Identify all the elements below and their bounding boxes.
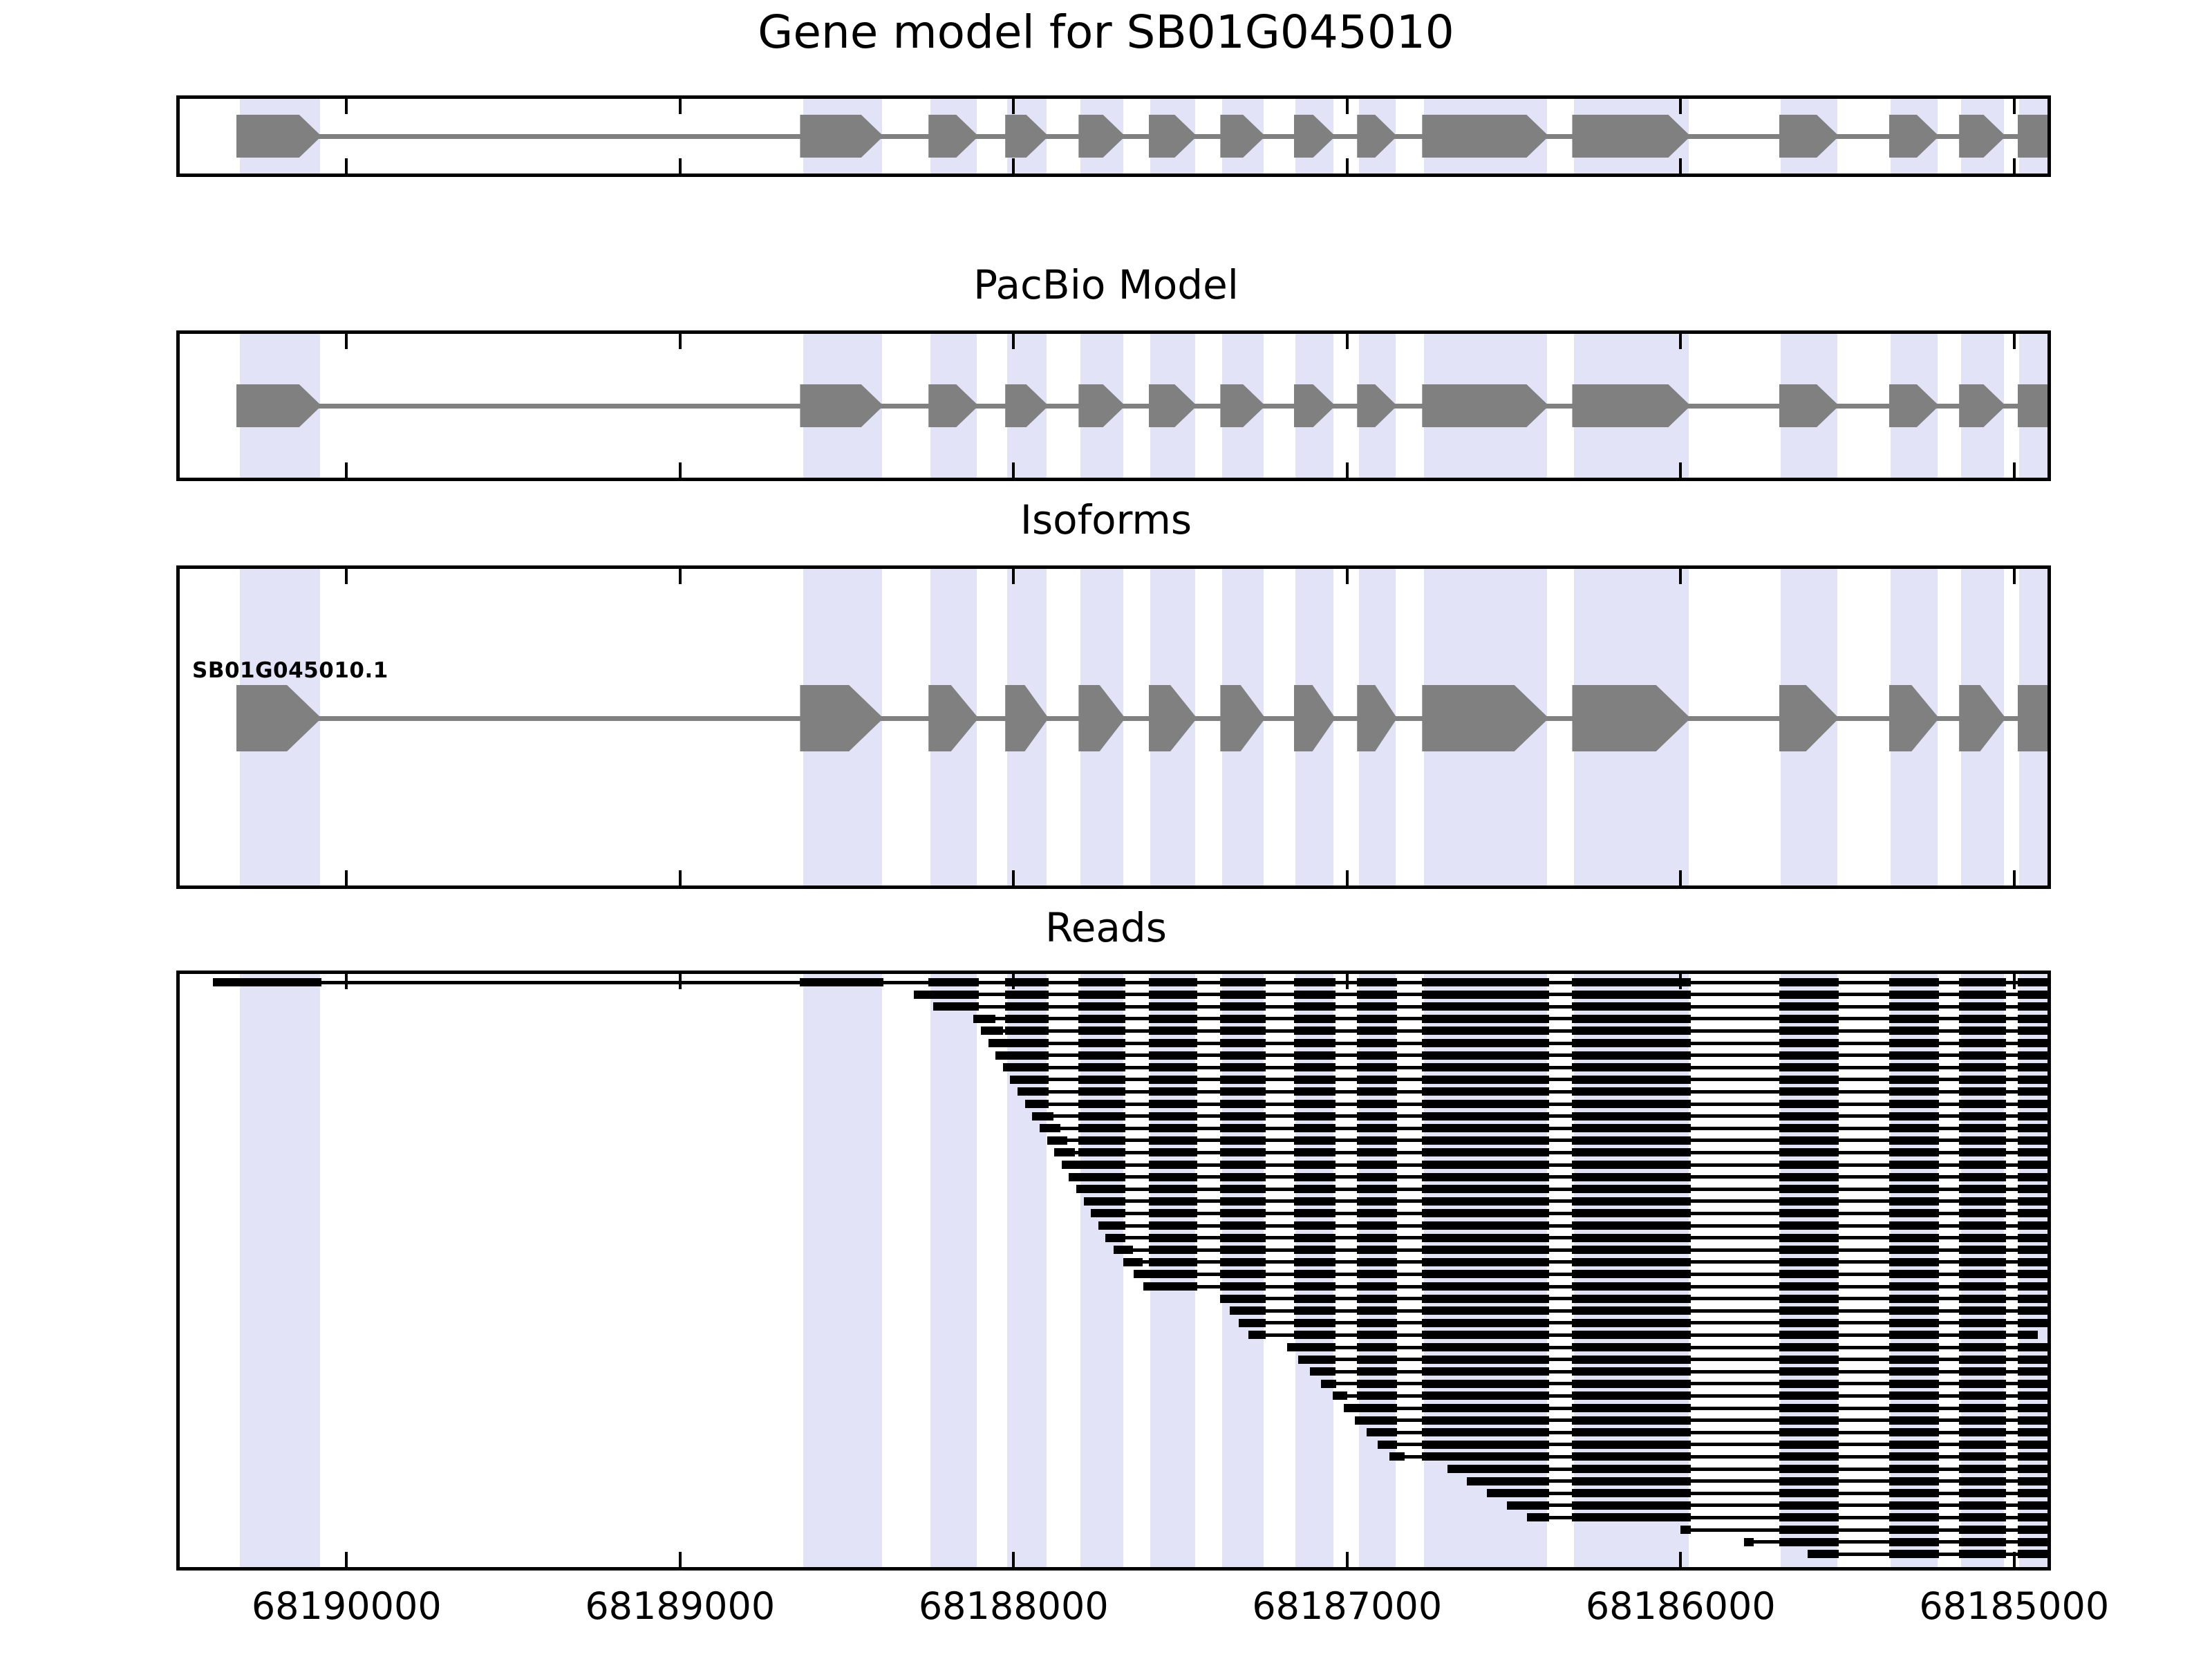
read-exon-block: [1422, 1282, 1548, 1291]
read-exon-block: [1959, 1124, 2006, 1132]
read-intron-line: [213, 981, 2051, 984]
read-exon-block: [1078, 978, 1125, 986]
read-exon-block: [1422, 1404, 1548, 1412]
read-start-block: [1114, 1246, 1133, 1254]
read-exon-block: [1889, 1258, 1939, 1266]
read-exon-block: [1220, 1258, 1265, 1266]
read-start-block: [1134, 1270, 1153, 1278]
read-exon-block: [1149, 1246, 1197, 1254]
axis-tick: [345, 1552, 348, 1567]
read-exon-block: [1357, 1258, 1397, 1266]
read-exon-block: [1357, 1391, 1397, 1400]
read-exon-block: [1078, 1136, 1125, 1145]
gene-model-panel: [176, 95, 2051, 177]
read-exon-block: [1422, 1197, 1548, 1206]
read-exon-block: [1357, 1185, 1397, 1193]
read-exon-block: [2018, 1063, 2051, 1071]
read-exon-block: [1572, 1465, 1690, 1473]
read-exon-block: [1294, 1136, 1335, 1145]
read-exon-block: [1959, 1161, 2006, 1169]
read-exon-block: [1220, 1063, 1265, 1071]
read-exon-block: [1889, 1380, 1939, 1388]
read-exon-block: [1220, 1282, 1265, 1291]
read-exon-block: [1357, 1027, 1397, 1035]
genome-browser-figure: Gene model for SB01G045010 PacBio Model …: [0, 0, 2212, 1659]
read-exon-block: [1779, 1282, 1839, 1291]
read-exon-block: [1572, 1173, 1690, 1181]
read-exon-block: [2018, 1465, 2051, 1473]
read-exon-block: [1149, 1209, 1197, 1217]
read-exon-block: [1959, 1027, 2006, 1035]
read-exon-block: [1779, 1477, 1839, 1485]
read-exon-block: [1889, 1221, 1939, 1230]
read-exon-block: [1220, 1015, 1265, 1023]
read-exon-block: [1889, 1501, 1939, 1510]
read-exon-block: [2018, 1282, 2051, 1291]
axis-tick: [2013, 1552, 2016, 1567]
read-exon-block: [1889, 1234, 1939, 1242]
read-exon-block: [1959, 1148, 2006, 1156]
highlight-band: [930, 974, 977, 1567]
read-exon-block: [1357, 1380, 1397, 1388]
read-start-block: [1069, 1173, 1089, 1181]
read-exon-block: [1889, 1319, 1939, 1327]
read-exon-block: [1889, 1002, 1939, 1011]
read-exon-block: [1889, 1076, 1939, 1084]
read-exon-block: [1357, 1209, 1397, 1217]
read-exon-block: [2018, 1234, 2051, 1242]
read-exon-block: [1959, 1465, 2006, 1473]
pacbio-model-panel: [176, 330, 2051, 481]
read-exon-block: [1959, 1100, 2006, 1108]
read-exon-block: [1220, 1002, 1265, 1011]
axis-tick: [345, 99, 348, 114]
read-start-block: [933, 1002, 956, 1011]
read-exon-block: [1220, 1148, 1265, 1156]
axis-tick: [1012, 99, 1015, 114]
exon-arrow: [1572, 384, 1690, 427]
highlight-band: [803, 974, 881, 1567]
read-start-block: [995, 1051, 1017, 1060]
read-exon-block: [2018, 978, 2051, 986]
read-exon-block: [1959, 1039, 2006, 1047]
read-exon-block: [1572, 1087, 1690, 1096]
read-exon-block: [2018, 1185, 2051, 1193]
axis-tick: [1679, 974, 1682, 989]
read-exon-block: [1294, 1063, 1335, 1071]
axis-tick: [1012, 462, 1015, 478]
read-exon-block: [1572, 1112, 1690, 1121]
read-exon-block: [1005, 991, 1049, 999]
exon-arrow: [2018, 115, 2051, 158]
read-exon-block: [1572, 1002, 1690, 1011]
read-exon-block: [1889, 1343, 1939, 1351]
read-exon-block: [1357, 1270, 1397, 1278]
read-exon-block: [1572, 1234, 1690, 1242]
read-exon-block: [1959, 1246, 2006, 1254]
read-exon-block: [1078, 1063, 1125, 1071]
read-exon-block: [1220, 1161, 1265, 1169]
read-exon-block: [1294, 1319, 1335, 1327]
read-exon-block: [2018, 1209, 2051, 1217]
read-exon-block: [1779, 1100, 1839, 1108]
read-exon-block: [1149, 1112, 1197, 1121]
read-exon-block: [1959, 1452, 2006, 1461]
read-start-block: [1333, 1391, 1348, 1400]
read-exon-block: [1572, 1489, 1690, 1497]
read-exon-block: [2018, 1002, 2051, 1011]
read-exon-block: [1889, 1306, 1939, 1315]
read-exon-block: [1357, 1112, 1397, 1121]
axis-tick: [1346, 334, 1349, 349]
axis-tick-label: 68189000: [585, 1584, 775, 1628]
read-exon-block: [2018, 1441, 2051, 1449]
read-exon-block: [1959, 1270, 2006, 1278]
read-exon-block: [1357, 1002, 1397, 1011]
read-exon-block: [1572, 1513, 1690, 1521]
read-exon-block: [1959, 1087, 2006, 1096]
axis-tick: [1679, 1552, 1682, 1567]
read-exon-block: [1357, 1197, 1397, 1206]
read-exon-block: [1078, 1015, 1125, 1023]
read-exon-block: [1422, 1295, 1548, 1303]
axis-tick: [679, 870, 682, 885]
read-exon-block: [1149, 1136, 1197, 1145]
axis-tick-label: 68187000: [1252, 1584, 1442, 1628]
read-exon-block: [1005, 1039, 1049, 1047]
isoforms-title: Isoforms: [0, 496, 2212, 543]
read-exon-block: [1220, 1173, 1265, 1181]
read-start-block: [1355, 1416, 1369, 1425]
read-exon-block: [1959, 991, 2006, 999]
read-exon-block: [2018, 1501, 2051, 1510]
read-exon-block: [1889, 991, 1939, 999]
read-start-block: [988, 1039, 1011, 1047]
read-exon-block: [1889, 1136, 1939, 1145]
axis-tick: [2013, 569, 2016, 584]
read-exon-block: [1959, 1428, 2006, 1436]
read-exon-block: [1572, 1148, 1690, 1156]
read-exon-block: [2018, 1477, 2051, 1485]
read-exon-block: [1572, 1331, 1690, 1339]
read-exon-block: [1422, 1076, 1548, 1084]
read-exon-block: [1294, 1002, 1335, 1011]
axis-tick: [1012, 334, 1015, 349]
read-exon-block: [2018, 1161, 2051, 1169]
axis-tick: [1346, 462, 1349, 478]
isoforms-panel: SB01G045010.1: [176, 565, 2051, 889]
read-exon-block: [1357, 1039, 1397, 1047]
axis-tick: [679, 462, 682, 478]
read-exon-block: [2018, 1258, 2051, 1266]
read-exon-block: [1889, 1428, 1939, 1436]
read-exon-block: [1422, 1246, 1548, 1254]
read-exon-block: [1357, 991, 1397, 999]
read-start-block: [1091, 1209, 1111, 1217]
read-exon-block: [1220, 1027, 1265, 1035]
read-exon-block: [1357, 1343, 1397, 1351]
read-exon-block: [1572, 1027, 1690, 1035]
read-exon-block: [2018, 1027, 2051, 1035]
read-exon-block: [1149, 1087, 1197, 1096]
read-start-block: [1487, 1489, 1499, 1497]
read-exon-block: [1078, 1087, 1125, 1096]
axis-tick: [345, 870, 348, 885]
read-exon-block: [1294, 1306, 1335, 1315]
read-exon-block: [1422, 1380, 1548, 1388]
read-exon-block: [1149, 1002, 1197, 1011]
read-exon-block: [1779, 1343, 1839, 1351]
read-exon-block: [1959, 1526, 2006, 1534]
read-exon-block: [1959, 1331, 2006, 1339]
read-start-block: [1032, 1112, 1053, 1121]
read-exon-block: [1959, 1015, 2006, 1023]
isoform-label: SB01G045010.1: [192, 658, 388, 683]
read-exon-block: [1779, 1063, 1839, 1071]
read-exon-block: [1779, 1306, 1839, 1315]
read-exon-block: [1294, 1221, 1335, 1230]
read-exon-block: [1149, 1015, 1197, 1023]
read-exon-block: [2018, 1513, 2051, 1521]
read-exon-block: [1078, 1051, 1125, 1060]
read-exon-block: [1294, 1234, 1335, 1242]
read-exon-block: [1422, 1112, 1548, 1121]
read-exon-block: [1889, 1295, 1939, 1303]
read-exon-block: [1779, 1087, 1839, 1096]
read-exon-block: [1357, 1148, 1397, 1156]
read-exon-block: [1572, 1282, 1690, 1291]
read-exon-block: [1357, 1100, 1397, 1108]
read-start-block: [1230, 1306, 1247, 1315]
read-start-block: [1507, 1501, 1519, 1510]
read-exon-block: [1422, 991, 1548, 999]
intron-line: [236, 404, 2051, 409]
read-exon-block: [1572, 1063, 1690, 1071]
read-exon-block: [1779, 1148, 1839, 1156]
read-exon-block: [1959, 1002, 2006, 1011]
read-exon-block: [1889, 1246, 1939, 1254]
read-exon-block: [2018, 1319, 2051, 1327]
axis-tick: [2013, 974, 2016, 989]
read-exon-block: [1959, 1391, 2006, 1400]
read-exon-block: [1959, 1489, 2006, 1497]
read-exon-block: [1889, 1538, 1939, 1546]
read-exon-block: [1779, 1501, 1839, 1510]
read-exon-block: [1422, 1209, 1548, 1217]
read-exon-block: [1779, 1076, 1839, 1084]
axis-tick: [679, 974, 682, 989]
reads-panel: [176, 971, 2051, 1571]
read-exon-block: [1220, 1209, 1265, 1217]
read-exon-block: [1959, 1367, 2006, 1376]
read-exon-block: [1959, 1185, 2006, 1193]
read-start-block: [1744, 1538, 1754, 1546]
read-exon-block: [1779, 1380, 1839, 1388]
read-exon-block: [2018, 1343, 2051, 1351]
read-exon-block: [1220, 1197, 1265, 1206]
read-exon-block: [1572, 1015, 1690, 1023]
read-exon-block: [1220, 1112, 1265, 1121]
read-exon-block: [1422, 1161, 1548, 1169]
axis-tick: [679, 99, 682, 114]
axis-tick: [1346, 1552, 1349, 1567]
read-exon-block: [1572, 1258, 1690, 1266]
read-exon-block: [1422, 1331, 1548, 1339]
axis-tick: [345, 462, 348, 478]
read-exon-block: [1078, 1124, 1125, 1132]
read-start-block: [1003, 1063, 1024, 1071]
read-exon-block: [1149, 1027, 1197, 1035]
read-exon-block: [1357, 1161, 1397, 1169]
read-exon-block: [1779, 1319, 1839, 1327]
read-exon-block: [1572, 1306, 1690, 1315]
read-exon-block: [1572, 1319, 1690, 1327]
read-exon-block: [2018, 1221, 2051, 1230]
read-exon-block: [2018, 1416, 2051, 1425]
read-exon-block: [1294, 1173, 1335, 1181]
read-exon-block: [1294, 1148, 1335, 1156]
axis-tick: [1679, 870, 1682, 885]
read-exon-block: [1572, 1100, 1690, 1108]
read-exon-block: [1422, 1221, 1548, 1230]
read-exon-block: [1149, 978, 1197, 986]
read-exon-block: [1294, 1209, 1335, 1217]
read-exon-block: [1889, 1550, 1939, 1558]
read-exon-block: [1779, 1209, 1839, 1217]
read-exon-block: [2018, 1295, 2051, 1303]
read-exon-block: [1357, 1319, 1397, 1327]
read-exon-block: [1572, 1197, 1690, 1206]
read-start-block: [1310, 1367, 1325, 1376]
read-exon-block: [1959, 1136, 2006, 1145]
read-exon-block: [1572, 1416, 1690, 1425]
read-exon-block: [2018, 1489, 2051, 1497]
axis-tick: [1346, 974, 1349, 989]
read-start-block: [1062, 1161, 1082, 1169]
read-exon-block: [1422, 1015, 1548, 1023]
read-exon-block: [1078, 1148, 1125, 1156]
read-exon-block: [1572, 1185, 1690, 1193]
read-exon-block: [1294, 1270, 1335, 1278]
read-exon-block: [1779, 1367, 1839, 1376]
read-start-block: [1239, 1319, 1255, 1327]
read-exon-block: [1779, 1356, 1839, 1364]
axis-tick-label: 68190000: [252, 1584, 442, 1628]
read-start-block: [1047, 1136, 1068, 1145]
read-exon-block: [1779, 1173, 1839, 1181]
read-exon-block: [1220, 1100, 1265, 1108]
read-exon-block: [1149, 1076, 1197, 1084]
read-exon-block: [2018, 1391, 2051, 1400]
read-exon-block: [1959, 1234, 2006, 1242]
read-exon-block: [1889, 978, 1939, 986]
read-exon-block: [1357, 1404, 1397, 1412]
read-exon-block: [1889, 1100, 1939, 1108]
read-exon-block: [2018, 1331, 2038, 1339]
read-exon-block: [1572, 1209, 1690, 1217]
exon-arrow: [2018, 685, 2051, 751]
read-exon-block: [1357, 1076, 1397, 1084]
axis-tick: [679, 569, 682, 584]
read-exon-block: [1294, 1112, 1335, 1121]
read-exon-block: [1572, 1124, 1690, 1132]
read-exon-block: [1220, 1051, 1265, 1060]
read-exon-block: [1294, 1051, 1335, 1060]
read-exon-block: [1959, 1221, 2006, 1230]
read-exon-block: [1889, 1197, 1939, 1206]
axis-tick: [345, 974, 348, 989]
read-exon-block: [1959, 1282, 2006, 1291]
read-exon-block: [1572, 1051, 1690, 1060]
read-exon-block: [1779, 1428, 1839, 1436]
axis-tick: [679, 1552, 682, 1567]
read-exon-block: [1572, 1428, 1690, 1436]
read-exon-block: [1005, 1015, 1049, 1023]
read-exon-block: [1779, 1015, 1839, 1023]
read-start-block: [1084, 1197, 1104, 1206]
read-exon-block: [1959, 1501, 2006, 1510]
read-exon-block: [2018, 1404, 2051, 1412]
read-start-block: [1808, 1550, 1817, 1558]
read-exon-block: [1357, 1331, 1397, 1339]
axis-tick: [1012, 870, 1015, 885]
read-exon-block: [1779, 1404, 1839, 1412]
axis-tick-label: 68188000: [919, 1584, 1109, 1628]
read-start-block: [1287, 1343, 1303, 1351]
read-exon-block: [2018, 1197, 2051, 1206]
read-exon-block: [2018, 1136, 2051, 1145]
read-exon-block: [1294, 1282, 1335, 1291]
read-exon-block: [1779, 1124, 1839, 1132]
read-exon-block: [1357, 1246, 1397, 1254]
intron-line: [236, 134, 2051, 139]
read-exon-block: [1078, 991, 1125, 999]
read-exon-block: [1959, 1076, 2006, 1084]
read-start-block: [1098, 1221, 1118, 1230]
read-exon-block: [1889, 1087, 1939, 1096]
read-exon-block: [1005, 1027, 1049, 1035]
read-exon-block: [1357, 978, 1397, 986]
read-exon-block: [1959, 1538, 2006, 1546]
highlight-band: [240, 974, 320, 1567]
read-exon-block: [1422, 1173, 1548, 1181]
read-start-block: [1105, 1234, 1125, 1242]
read-exon-block: [1959, 1441, 2006, 1449]
read-start-block: [1321, 1380, 1336, 1388]
read-exon-block: [1779, 1246, 1839, 1254]
read-exon-block: [1779, 1331, 1839, 1339]
read-exon-block: [1959, 1306, 2006, 1315]
read-start-block: [1248, 1331, 1264, 1339]
read-exon-block: [1779, 1197, 1839, 1206]
axis-tick: [1012, 569, 1015, 584]
read-exon-block: [1889, 1452, 1939, 1461]
read-exon-block: [1078, 1161, 1125, 1169]
read-exon-block: [1422, 1136, 1548, 1145]
read-exon-block: [1779, 1136, 1839, 1145]
read-exon-block: [1959, 1404, 2006, 1412]
read-exon-block: [1779, 1112, 1839, 1121]
axis-tick: [679, 158, 682, 174]
read-start-block: [1220, 1295, 1237, 1303]
exon-arrow: [1572, 115, 1690, 158]
read-exon-block: [1889, 1489, 1939, 1497]
read-exon-block: [1357, 1051, 1397, 1060]
read-exon-block: [1779, 1002, 1839, 1011]
read-start-block: [1018, 1087, 1039, 1096]
read-exon-block: [2018, 1039, 2051, 1047]
exon-arrow: [1422, 115, 1548, 158]
